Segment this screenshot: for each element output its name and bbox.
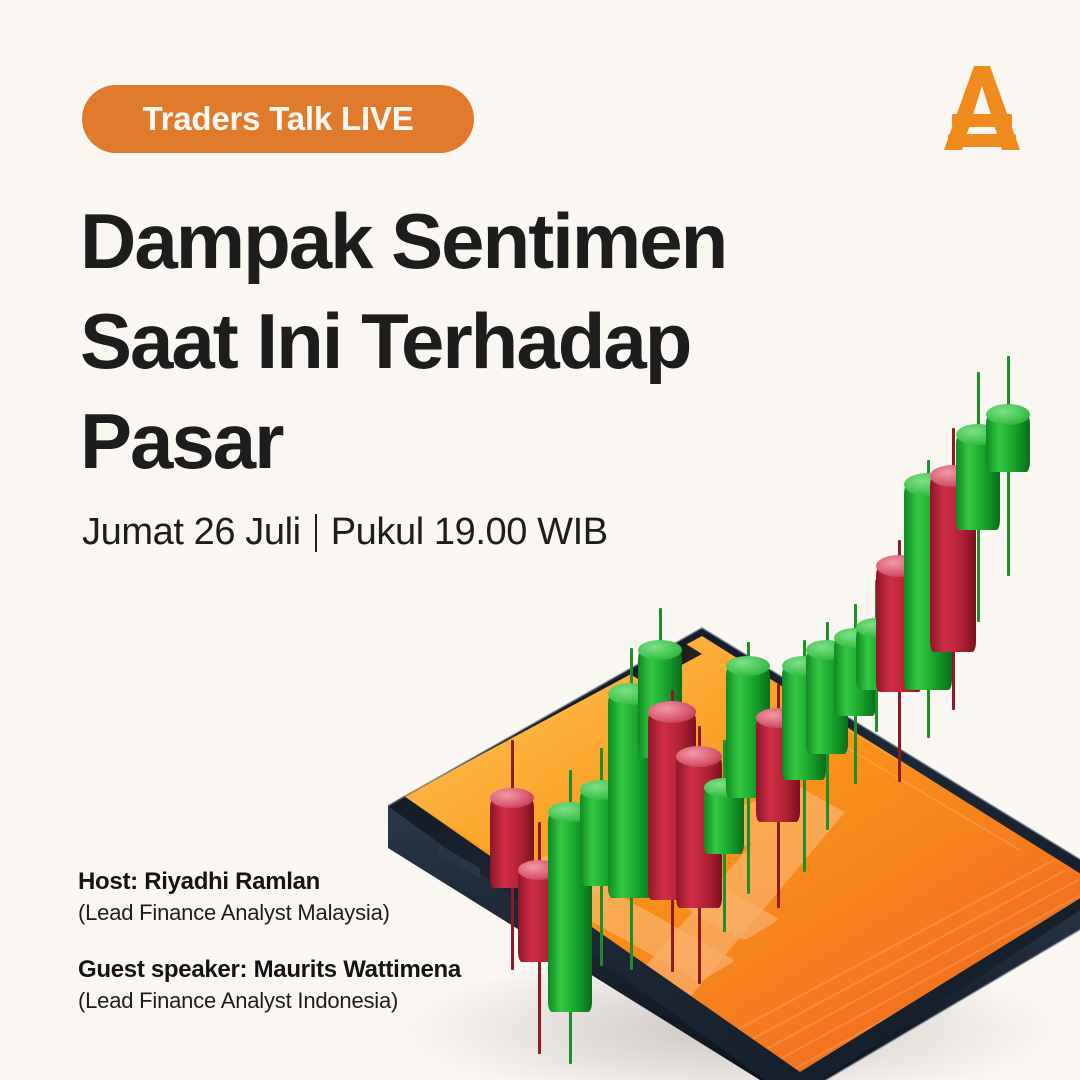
- candle-cap: [930, 465, 976, 487]
- live-badge-label: Traders Talk LIVE: [142, 100, 413, 138]
- page-title-line-3: Pasar: [80, 392, 840, 492]
- candle-body: [986, 414, 1030, 472]
- guest-credit: Guest speaker: Maurits Wattimena (Lead F…: [78, 956, 461, 1014]
- host-role: (Lead Finance Analyst Malaysia): [78, 900, 461, 926]
- guest-role: (Lead Finance Analyst Indonesia): [78, 988, 461, 1014]
- host-credit: Host: Riyadhi Ramlan (Lead Finance Analy…: [78, 868, 461, 926]
- promo-poster: Traders Talk LIVE Dampak Sentimen Saat I…: [0, 0, 1080, 1080]
- candle-cap: [876, 555, 922, 577]
- schedule-separator: [315, 514, 317, 552]
- candle-body: [956, 434, 1000, 530]
- host-name: Host: Riyadhi Ramlan: [78, 868, 461, 896]
- candle-cap: [956, 424, 1000, 445]
- candle-cap: [904, 473, 952, 496]
- guest-name: Guest speaker: Maurits Wattimena: [78, 956, 461, 984]
- schedule-time: Pukul 19.00 WIB: [331, 511, 608, 554]
- credits-block: Host: Riyadhi Ramlan (Lead Finance Analy…: [78, 868, 461, 1014]
- live-badge: Traders Talk LIVE: [82, 85, 474, 153]
- schedule-line: Jumat 26 Juli Pukul 19.00 WIB: [82, 511, 608, 554]
- candle-cap: [986, 404, 1030, 425]
- candle-wick: [977, 372, 980, 622]
- candle-20: [986, 356, 1030, 584]
- schedule-date: Jumat 26 Juli: [82, 511, 301, 554]
- page-title-line-2: Saat Ini Terhadap: [80, 292, 840, 392]
- brand-logo-icon: [934, 58, 1030, 158]
- candle-19: [956, 372, 1000, 630]
- page-title-line-1: Dampak Sentimen: [80, 192, 840, 292]
- candle-wick: [1007, 356, 1010, 576]
- page-title: Dampak Sentimen Saat Ini Terhadap Pasar: [80, 192, 840, 491]
